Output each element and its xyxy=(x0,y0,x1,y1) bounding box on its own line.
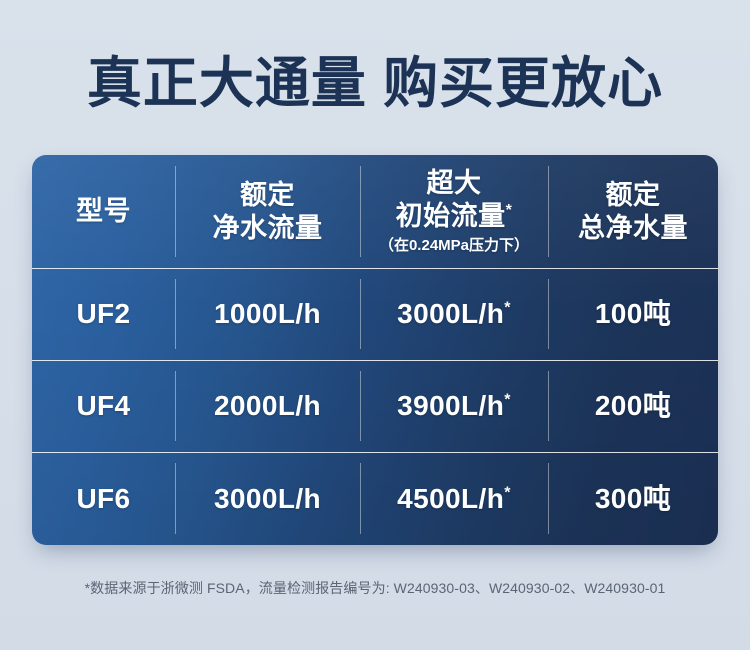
value-initial-flow-asterisk: * xyxy=(504,300,511,317)
table-row: UF4 2000L/h 3900L/h* 200吨 xyxy=(32,360,718,452)
value-total-water: 100吨 xyxy=(595,297,671,331)
header-rated-flow-line2: 净水流量 xyxy=(213,213,323,243)
value-initial-flow: 3000L/h xyxy=(397,298,504,329)
table-header-cell-rated-flow: 额定 净水流量 xyxy=(175,155,360,268)
header-initial-flow-line1: 超大 xyxy=(426,168,481,198)
page-background: 真正大通量 购买更放心 型号 额定 净水流量 超大 初始流量* （在0.24MP… xyxy=(0,0,750,650)
table-header-cell-model: 型号 xyxy=(32,155,175,268)
table-row: UF2 1000L/h 3000L/h* 100吨 xyxy=(32,268,718,360)
cell-initial-flow: 3900L/h* xyxy=(360,360,548,452)
table-header-row: 型号 额定 净水流量 超大 初始流量* （在0.24MPa压力下） 额定 xyxy=(32,155,718,268)
value-total-water: 300吨 xyxy=(595,482,671,516)
value-initial-flow: 4500L/h xyxy=(397,483,504,514)
header-model-label: 型号 xyxy=(76,196,131,226)
cell-total-water: 200吨 xyxy=(548,360,718,452)
cell-initial-flow: 4500L/h* xyxy=(360,452,548,545)
value-initial-flow-asterisk: * xyxy=(504,392,511,409)
cell-rated-flow: 2000L/h xyxy=(175,360,360,452)
header-total-water-line1: 额定 xyxy=(606,180,661,210)
cell-rated-flow: 3000L/h xyxy=(175,452,360,545)
cell-total-water: 300吨 xyxy=(548,452,718,545)
footnote-text: *数据来源于浙微测 FSDA，流量检测报告编号为: W240930-03、W24… xyxy=(0,578,750,598)
page-title: 真正大通量 购买更放心 xyxy=(0,50,750,116)
value-rated-flow: 3000L/h xyxy=(214,482,321,516)
value-model: UF6 xyxy=(76,482,130,516)
table-row: UF6 3000L/h 4500L/h* 300吨 xyxy=(32,452,718,545)
value-model: UF4 xyxy=(76,389,130,423)
spec-table: 型号 额定 净水流量 超大 初始流量* （在0.24MPa压力下） 额定 xyxy=(32,155,718,545)
value-total-water: 200吨 xyxy=(595,389,671,423)
table-header-cell-initial-flow: 超大 初始流量* （在0.24MPa压力下） xyxy=(360,155,548,268)
table-header-cell-total-water: 额定 总净水量 xyxy=(548,155,718,268)
header-total-water-line2: 总净水量 xyxy=(578,213,688,243)
value-rated-flow: 2000L/h xyxy=(214,389,321,423)
cell-initial-flow: 3000L/h* xyxy=(360,268,548,360)
cell-rated-flow: 1000L/h xyxy=(175,268,360,360)
header-initial-flow-asterisk: * xyxy=(506,202,513,219)
cell-total-water: 100吨 xyxy=(548,268,718,360)
value-model: UF2 xyxy=(76,297,130,331)
header-initial-flow-line2: 初始流量 xyxy=(396,201,506,231)
value-initial-flow-asterisk: * xyxy=(504,484,511,501)
header-initial-flow-subtitle: （在0.24MPa压力下） xyxy=(379,235,529,257)
cell-model: UF6 xyxy=(32,452,175,545)
header-rated-flow-line1: 额定 xyxy=(240,180,295,210)
value-initial-flow: 3900L/h xyxy=(397,390,504,421)
cell-model: UF4 xyxy=(32,360,175,452)
value-rated-flow: 1000L/h xyxy=(214,297,321,331)
cell-model: UF2 xyxy=(32,268,175,360)
